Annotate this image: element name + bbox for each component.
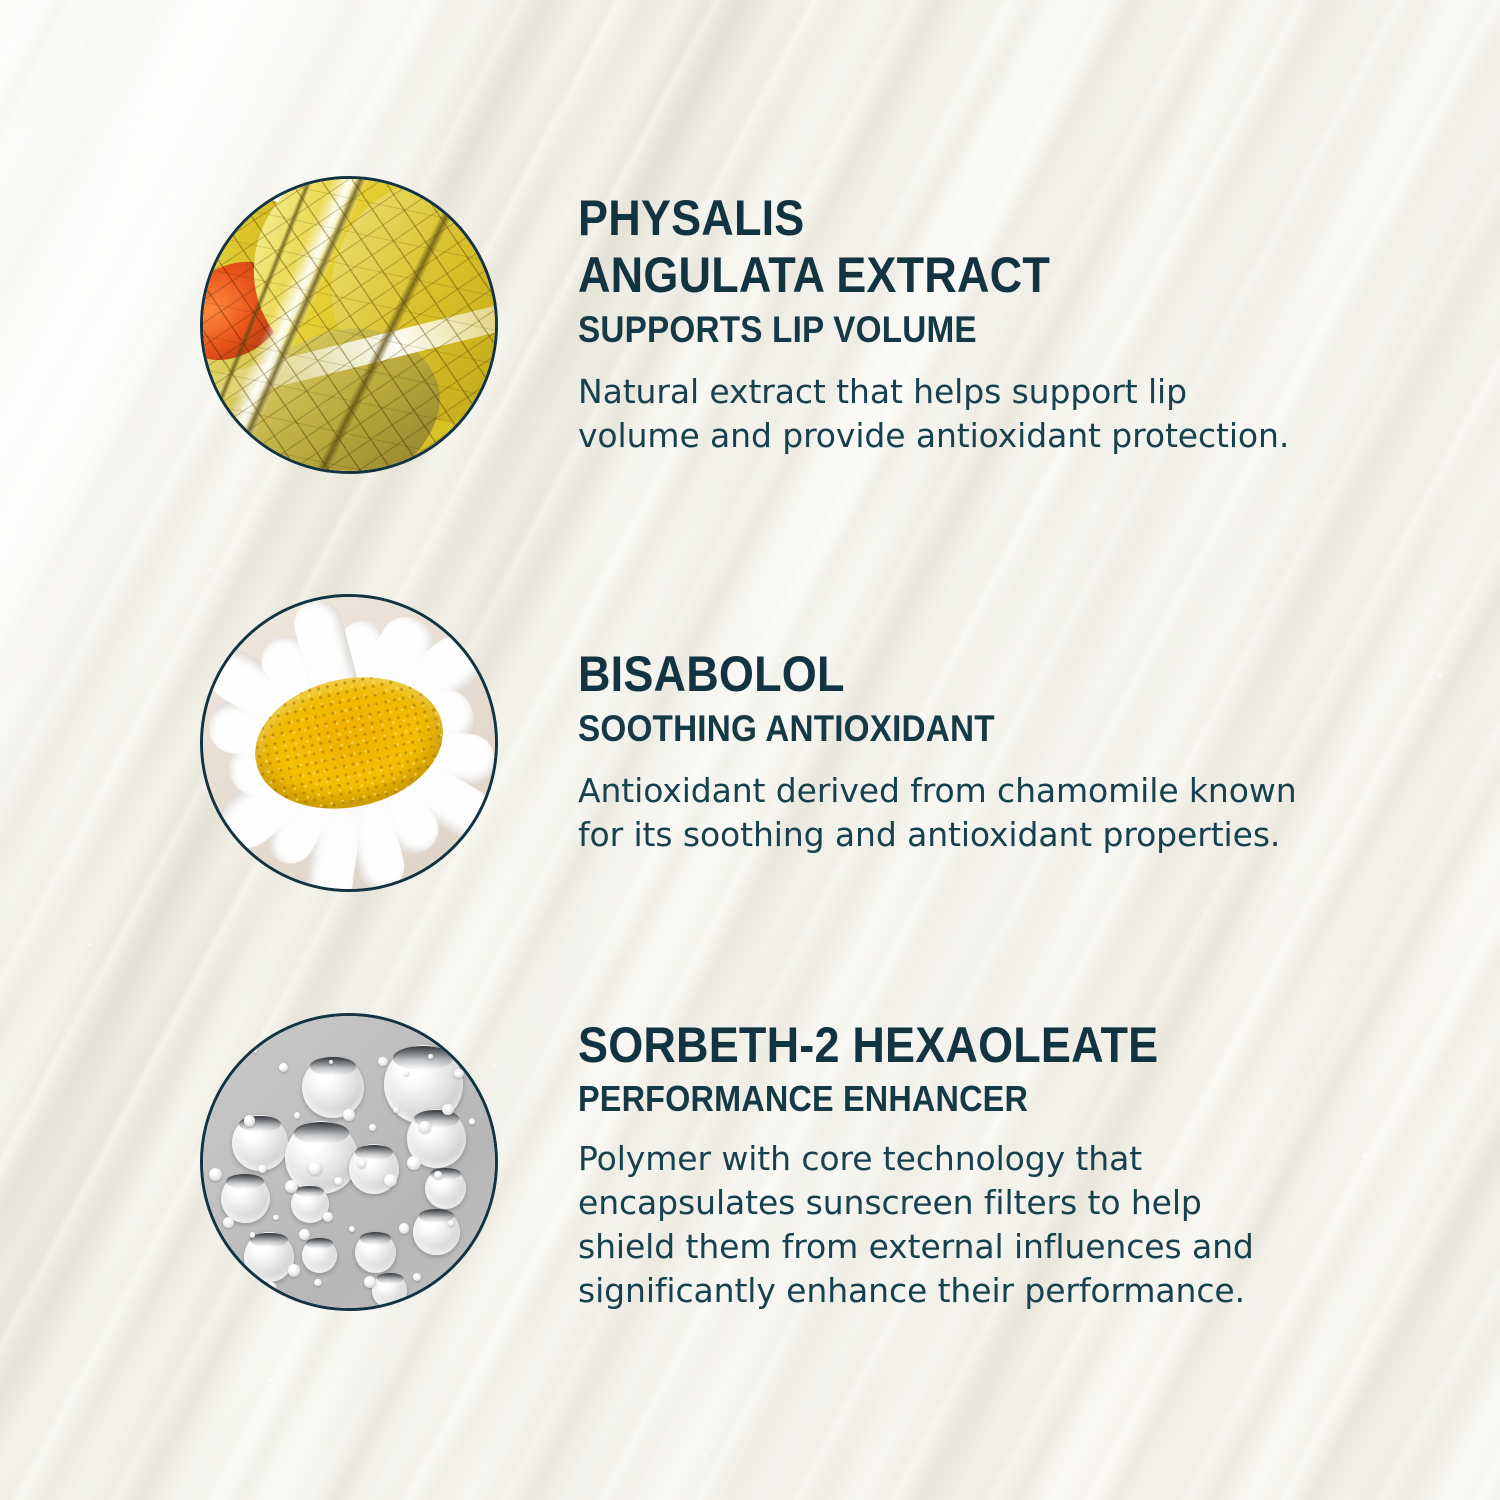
micro-bubble bbox=[264, 1282, 276, 1294]
bubble bbox=[425, 1168, 466, 1209]
micro-bubble bbox=[407, 1156, 420, 1169]
micro-bubble bbox=[334, 1177, 343, 1186]
micro-bubble bbox=[378, 1057, 388, 1067]
micro-bubble bbox=[454, 1069, 464, 1079]
micro-bubble bbox=[258, 1165, 267, 1174]
ingredient-row-physalis: PHYSALIS ANGULATA EXTRACT SUPPORTS LIP V… bbox=[200, 176, 1289, 474]
bisabolol-copy-block: BISABOLOL SOOTHING ANTIOXIDANT Antioxida… bbox=[578, 594, 1297, 857]
micro-bubble bbox=[323, 1212, 334, 1223]
bisabolol-medallion bbox=[200, 594, 498, 892]
micro-bubble bbox=[442, 1104, 453, 1115]
micro-bubble bbox=[288, 1264, 300, 1276]
sorbeth-copy-block: SORBETH-2 HEXAOLEATE PERFORMANCE ENHANCE… bbox=[578, 1013, 1254, 1313]
micro-bubble bbox=[244, 1115, 255, 1126]
ingredient-subtitle: SUPPORTS LIP VOLUME bbox=[578, 308, 1218, 352]
micro-bubble bbox=[413, 1273, 421, 1281]
micro-bubble bbox=[294, 1112, 301, 1119]
micro-bubble bbox=[203, 1051, 213, 1061]
bubble bbox=[232, 1115, 287, 1170]
micro-bubble bbox=[448, 1220, 454, 1226]
physalis-medallion bbox=[200, 176, 498, 474]
micro-bubble bbox=[469, 1118, 476, 1125]
ingredient-row-sorbeth: SORBETH-2 HEXAOLEATE PERFORMANCE ENHANCE… bbox=[200, 1013, 1254, 1313]
ingredient-subtitle: SOOTHING ANTIOXIDANT bbox=[578, 707, 1225, 751]
micro-bubble bbox=[343, 1109, 354, 1120]
chamomile-flower-photo bbox=[203, 597, 495, 889]
sorbeth-medallion bbox=[200, 1013, 498, 1311]
micro-bubble bbox=[285, 1180, 298, 1193]
micro-bubble bbox=[384, 1174, 397, 1187]
micro-bubble bbox=[314, 1279, 322, 1287]
bubble bbox=[302, 1238, 337, 1273]
ingredient-row-bisabolol: BISABOLOL SOOTHING ANTIOXIDANT Antioxida… bbox=[200, 594, 1297, 892]
bubble bbox=[413, 1209, 460, 1256]
micro-bubble bbox=[419, 1121, 430, 1132]
ingredient-subtitle: PERFORMANCE ENHANCER bbox=[578, 1077, 1186, 1121]
micro-bubble bbox=[299, 1229, 310, 1240]
micro-bubble bbox=[229, 1066, 234, 1071]
bubble bbox=[244, 1232, 294, 1282]
infographic-canvas: PHYSALIS ANGULATA EXTRACT SUPPORTS LIP V… bbox=[0, 0, 1500, 1500]
ingredient-title: BISABOLOL bbox=[578, 646, 1225, 703]
encapsulated-bubbles-photo bbox=[203, 1016, 495, 1308]
micro-bubble bbox=[349, 1226, 355, 1232]
bubble bbox=[372, 1273, 407, 1308]
micro-bubble bbox=[238, 1267, 246, 1275]
micro-bubble bbox=[428, 1054, 433, 1059]
ingredient-title: SORBETH-2 HEXAOLEATE bbox=[578, 1017, 1186, 1073]
micro-bubble bbox=[308, 1162, 321, 1175]
micro-bubble bbox=[279, 1063, 289, 1073]
bubble bbox=[355, 1232, 396, 1273]
micro-bubble bbox=[215, 1016, 223, 1024]
micro-bubble bbox=[209, 1168, 222, 1181]
micro-bubble bbox=[273, 1215, 279, 1221]
micro-bubble bbox=[250, 1232, 256, 1238]
micro-bubble bbox=[399, 1223, 410, 1234]
bubble bbox=[302, 1057, 363, 1118]
micro-bubble bbox=[369, 1124, 376, 1131]
ingredient-description: Antioxidant derived from chamomile known… bbox=[578, 769, 1297, 857]
micro-bubble bbox=[463, 1270, 475, 1282]
ingredient-description: Polymer with core technology that encaps… bbox=[578, 1137, 1254, 1313]
bubble bbox=[221, 1174, 271, 1224]
micro-bubble bbox=[358, 1159, 367, 1168]
micro-bubble bbox=[253, 1048, 258, 1053]
ingredient-title: PHYSALIS ANGULATA EXTRACT bbox=[578, 190, 1218, 304]
ingredient-description: Natural extract that helps support lip v… bbox=[578, 370, 1289, 458]
micro-bubble bbox=[223, 1217, 234, 1228]
physalis-husk-photo bbox=[203, 179, 495, 471]
physalis-copy-block: PHYSALIS ANGULATA EXTRACT SUPPORTS LIP V… bbox=[578, 176, 1289, 458]
